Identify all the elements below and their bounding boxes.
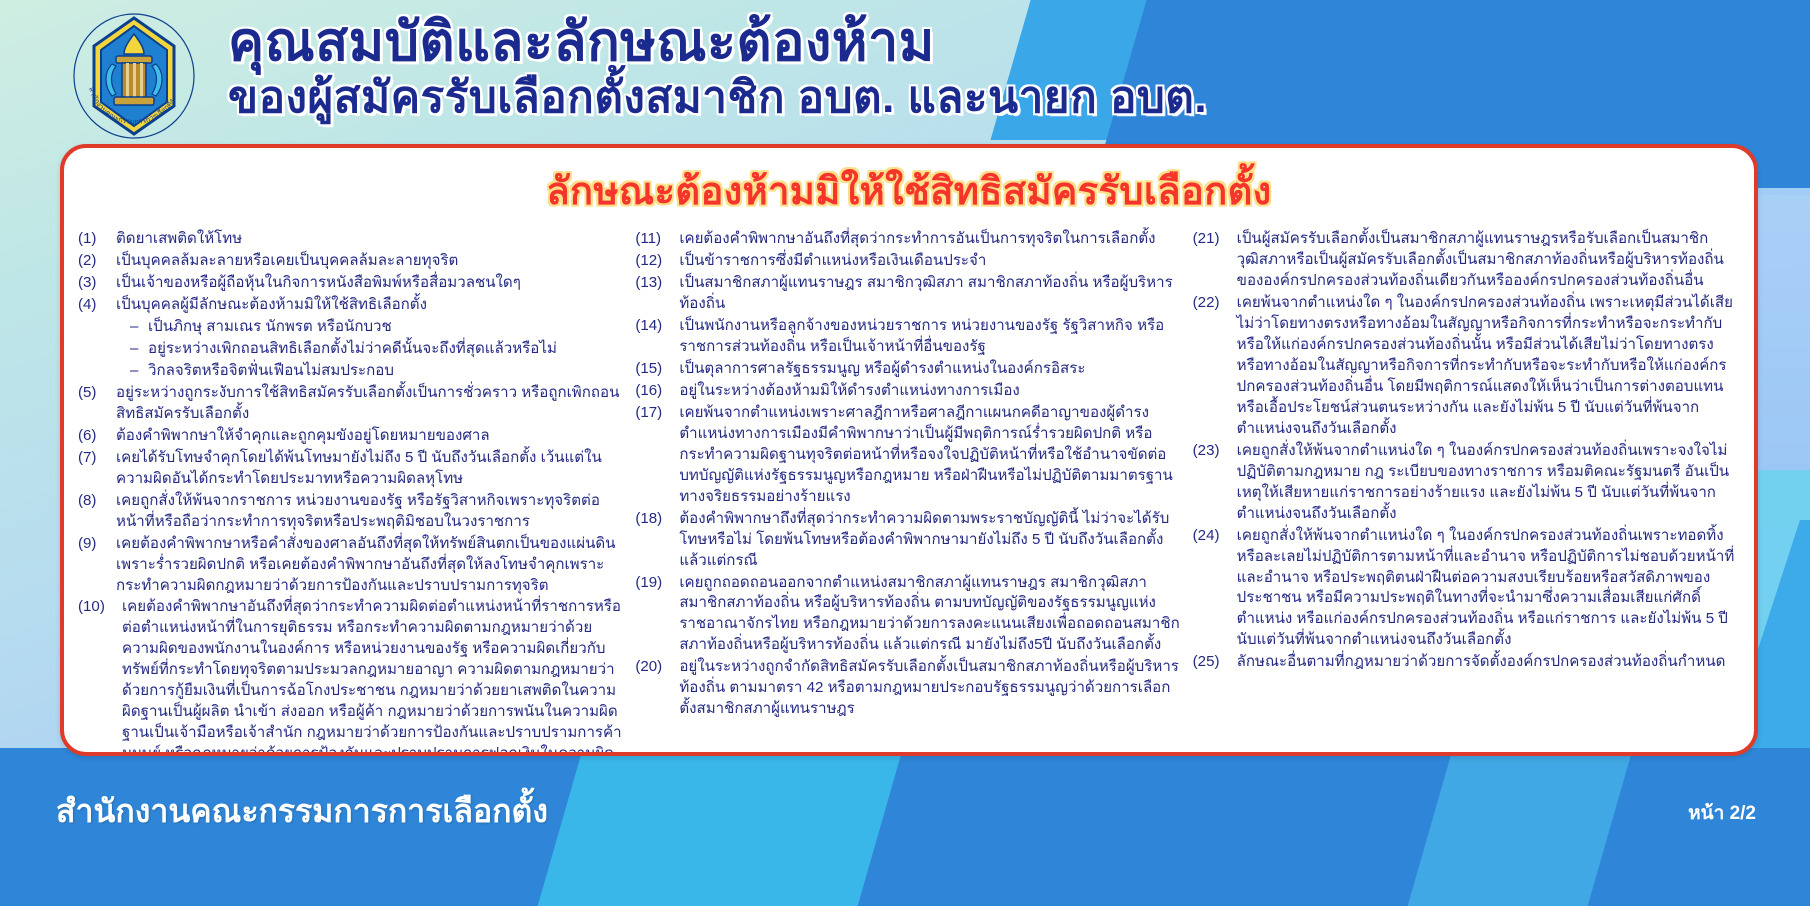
- item-text: เป็นสมาชิกสภาผู้แทนราษฎร สมาชิกวุฒิสภา ส…: [679, 273, 1182, 315]
- item-number: (9): [78, 534, 116, 597]
- item-number: (2): [78, 251, 116, 272]
- item-number: (16): [635, 381, 679, 402]
- prohibition-item: (9)เคยต้องคำพิพากษาหรือคำสั่งของศาลอันถึ…: [78, 534, 625, 597]
- prohibition-item: (10)เคยต้องคำพิพากษาอันถึงที่สุดว่ากระทำ…: [78, 597, 625, 756]
- item-text: เป็นภิกษุ สามเณร นักพรต หรือนักบวช: [148, 317, 625, 338]
- prohibition-item: (19)เคยถูกถอดถอนออกจากตำแหน่งสมาชิกสภาผู…: [635, 573, 1182, 657]
- item-text: เคยต้องคำพิพากษาหรือคำสั่งของศาลอันถึงที…: [116, 534, 625, 597]
- prohibition-item: (3)เป็นเจ้าของหรือผู้ถือหุ้นในกิจการหนัง…: [78, 273, 625, 294]
- prohibition-item: (22)เคยพ้นจากตำแหน่งใด ๆ ในองค์กรปกครองส…: [1193, 293, 1740, 440]
- item-text: เคยถูกสั่งให้พ้นจากตำแหน่งใด ๆ ในองค์กรป…: [1237, 441, 1740, 525]
- prohibition-item: (16)อยู่ในระหว่างต้องห้ามมิให้ดำรงตำแหน่…: [635, 381, 1182, 402]
- item-number: (25): [1193, 652, 1237, 673]
- prohibition-item: (1)ติดยาเสพติดให้โทษ: [78, 229, 625, 250]
- prohibition-item: (6)ต้องคำพิพากษาให้จำคุกและถูกคุมขังอยู่…: [78, 426, 625, 447]
- item-text: อยู่ในระหว่างต้องห้ามมิให้ดำรงตำแหน่งทาง…: [679, 381, 1182, 402]
- prohibition-item: (4)เป็นบุคคลผู้มีลักษณะต้องห้ามมิให้ใช้ส…: [78, 295, 625, 316]
- prohibition-column-3: (21)เป็นผู้สมัครรับเลือกตั้งเป็นสมาชิกสภ…: [1193, 229, 1740, 756]
- prohibited-characteristics-card: ลักษณะต้องห้ามมิให้ใช้สิทธิสมัครรับเลือก…: [60, 144, 1758, 756]
- poster-header: สำนักงานคณะกรรมการการเลือกตั้ง คุณสมบัติ…: [0, 0, 1810, 148]
- item-text: เป็นเจ้าของหรือผู้ถือหุ้นในกิจการหนังสือ…: [116, 273, 625, 294]
- prohibition-column-2: (11)เคยต้องคำพิพากษาอันถึงที่สุดว่ากระทำ…: [635, 229, 1182, 756]
- item-text: เคยพ้นจากตำแหน่งใด ๆ ในองค์กรปกครองส่วนท…: [1237, 293, 1740, 440]
- item-number: (15): [635, 359, 679, 380]
- item-number: (1): [78, 229, 116, 250]
- item-number: (24): [1193, 526, 1237, 652]
- item-number: –: [130, 317, 148, 338]
- prohibition-item: (20)อยู่ในระหว่างถูกจำกัดสิทธิสมัครรับเล…: [635, 657, 1182, 720]
- prohibition-item: (14)เป็นพนักงานหรือลูกจ้างของหน่วยราชการ…: [635, 316, 1182, 358]
- item-text: เป็นบุคคลผู้มีลักษณะต้องห้ามมิให้ใช้สิทธ…: [116, 295, 625, 316]
- prohibition-item: (8)เคยถูกสั่งให้พ้นจากราชการ หน่วยงานของ…: [78, 491, 625, 533]
- prohibition-item: (2)เป็นบุคคลล้มละลายหรือเคยเป็นบุคคลล้มล…: [78, 251, 625, 272]
- prohibition-sub-item: –อยู่ระหว่างเพิกถอนสิทธิเลือกตั้งไม่ว่าค…: [78, 339, 625, 360]
- item-text: ต้องคำพิพากษาให้จำคุกและถูกคุมขังอยู่โดย…: [116, 426, 625, 447]
- item-text: เป็นข้าราชการซึ่งมีตำแหน่งหรือเงินเดือนป…: [679, 251, 1182, 272]
- prohibition-item: (11)เคยต้องคำพิพากษาอันถึงที่สุดว่ากระทำ…: [635, 229, 1182, 250]
- item-text: เป็นบุคคลล้มละลายหรือเคยเป็นบุคคลล้มละลา…: [116, 251, 625, 272]
- card-title: ลักษณะต้องห้ามมิให้ใช้สิทธิสมัครรับเลือก…: [64, 160, 1754, 221]
- prohibition-item: (5)อยู่ระหว่างถูกระงับการใช้สิทธิสมัครรั…: [78, 383, 625, 425]
- item-number: (22): [1193, 293, 1237, 440]
- prohibition-sub-item: –เป็นภิกษุ สามเณร นักพรต หรือนักบวช: [78, 317, 625, 338]
- poster-title-line2: ของผู้สมัครรับเลือกตั้งสมาชิก อบต. และนา…: [228, 75, 1288, 121]
- poster-title-line1: คุณสมบัติและลักษณะต้องห้าม: [228, 14, 1288, 71]
- prohibition-item: (12)เป็นข้าราชการซึ่งมีตำแหน่งหรือเงินเด…: [635, 251, 1182, 272]
- footer-organization-label: สำนักงานคณะกรรมการการเลือกตั้ง: [56, 786, 548, 837]
- poster-root: สำนักงานคณะกรรมการการเลือกตั้ง คุณสมบัติ…: [0, 0, 1810, 906]
- prohibition-item: (15)เป็นตุลาการศาลรัฐธรรมนูญ หรือผู้ดำรง…: [635, 359, 1182, 380]
- prohibition-item: (23)เคยถูกสั่งให้พ้นจากตำแหน่งใด ๆ ในองค…: [1193, 441, 1740, 525]
- prohibition-list: (21)เป็นผู้สมัครรับเลือกตั้งเป็นสมาชิกสภ…: [1193, 229, 1740, 673]
- prohibition-item: (13)เป็นสมาชิกสภาผู้แทนราษฎร สมาชิกวุฒิส…: [635, 273, 1182, 315]
- prohibition-item: (7)เคยได้รับโทษจำคุกโดยได้พ้นโทษมายังไม่…: [78, 448, 625, 490]
- item-number: (8): [78, 491, 116, 533]
- election-commission-seal-icon: สำนักงานคณะกรรมการการเลือกตั้ง: [70, 12, 198, 140]
- prohibition-item: (21)เป็นผู้สมัครรับเลือกตั้งเป็นสมาชิกสภ…: [1193, 229, 1740, 292]
- item-number: (5): [78, 383, 116, 425]
- item-number: (10): [78, 597, 122, 756]
- item-number: (23): [1193, 441, 1237, 525]
- item-number: –: [130, 361, 148, 382]
- item-text: เคยต้องคำพิพากษาอันถึงที่สุดว่ากระทำการอ…: [679, 229, 1182, 250]
- item-number: (3): [78, 273, 116, 294]
- prohibition-sub-item: –วิกลจริตหรือจิตฟั่นเฟือนไม่สมประกอบ: [78, 361, 625, 382]
- item-text: เป็นผู้สมัครรับเลือกตั้งเป็นสมาชิกสภาผู้…: [1237, 229, 1740, 292]
- item-text: เป็นพนักงานหรือลูกจ้างของหน่วยราชการ หน่…: [679, 316, 1182, 358]
- item-text: เคยพ้นจากตำแหน่งเพราะศาลฎีกาหรือศาลฎีกาแ…: [679, 403, 1182, 508]
- item-text: อยู่ระหว่างถูกระงับการใช้สิทธิสมัครรับเล…: [116, 383, 625, 425]
- item-number: (6): [78, 426, 116, 447]
- item-text: ลักษณะอื่นตามที่กฎหมายว่าด้วยการจัดตั้งอ…: [1237, 652, 1740, 673]
- item-text: เคยต้องคำพิพากษาอันถึงที่สุดว่ากระทำความ…: [122, 597, 625, 756]
- card-columns: (1)ติดยาเสพติดให้โทษ(2)เป็นบุคคลล้มละลาย…: [64, 221, 1754, 756]
- prohibition-list: (11)เคยต้องคำพิพากษาอันถึงที่สุดว่ากระทำ…: [635, 229, 1182, 720]
- poster-footer: สำนักงานคณะกรรมการการเลือกตั้ง หน้า 2/2: [0, 748, 1810, 906]
- item-text: ติดยาเสพติดให้โทษ: [116, 229, 625, 250]
- item-text: อยู่ระหว่างเพิกถอนสิทธิเลือกตั้งไม่ว่าคด…: [148, 339, 625, 360]
- prohibition-item: (18)ต้องคำพิพากษาถึงที่สุดว่ากระทำความผิ…: [635, 509, 1182, 572]
- item-text: เป็นตุลาการศาลรัฐธรรมนูญ หรือผู้ดำรงตำแห…: [679, 359, 1182, 380]
- prohibition-item: (17)เคยพ้นจากตำแหน่งเพราะศาลฎีกาหรือศาลฎ…: [635, 403, 1182, 508]
- prohibition-item: (24)เคยถูกสั่งให้พ้นจากตำแหน่งใด ๆ ในองค…: [1193, 526, 1740, 652]
- item-number: (4): [78, 295, 116, 316]
- item-text: เคยได้รับโทษจำคุกโดยได้พ้นโทษมายังไม่ถึง…: [116, 448, 625, 490]
- item-number: (11): [635, 229, 679, 250]
- item-text: ต้องคำพิพากษาถึงที่สุดว่ากระทำความผิดตาม…: [679, 509, 1182, 572]
- item-number: –: [130, 339, 148, 360]
- footer-page-number: หน้า 2/2: [1688, 798, 1756, 828]
- item-text: วิกลจริตหรือจิตฟั่นเฟือนไม่สมประกอบ: [148, 361, 625, 382]
- item-text: เคยถูกถอดถอนออกจากตำแหน่งสมาชิกสภาผู้แทน…: [679, 573, 1182, 657]
- item-number: (20): [635, 657, 679, 720]
- item-number: (19): [635, 573, 679, 657]
- item-text: เคยถูกสั่งให้พ้นจากราชการ หน่วยงานของรัฐ…: [116, 491, 625, 533]
- item-number: (14): [635, 316, 679, 358]
- item-number: (7): [78, 448, 116, 490]
- item-number: (18): [635, 509, 679, 572]
- item-number: (13): [635, 273, 679, 315]
- poster-title-block: คุณสมบัติและลักษณะต้องห้าม ของผู้สมัครรั…: [228, 14, 1288, 121]
- prohibition-column-1: (1)ติดยาเสพติดให้โทษ(2)เป็นบุคคลล้มละลาย…: [78, 229, 625, 756]
- item-number: (17): [635, 403, 679, 508]
- item-text: เคยถูกสั่งให้พ้นจากตำแหน่งใด ๆ ในองค์กรป…: [1237, 526, 1740, 652]
- item-number: (21): [1193, 229, 1237, 292]
- prohibition-item: (25)ลักษณะอื่นตามที่กฎหมายว่าด้วยการจัดต…: [1193, 652, 1740, 673]
- prohibition-list: (1)ติดยาเสพติดให้โทษ(2)เป็นบุคคลล้มละลาย…: [78, 229, 625, 756]
- item-text: อยู่ในระหว่างถูกจำกัดสิทธิสมัครรับเลือกต…: [679, 657, 1182, 720]
- item-number: (12): [635, 251, 679, 272]
